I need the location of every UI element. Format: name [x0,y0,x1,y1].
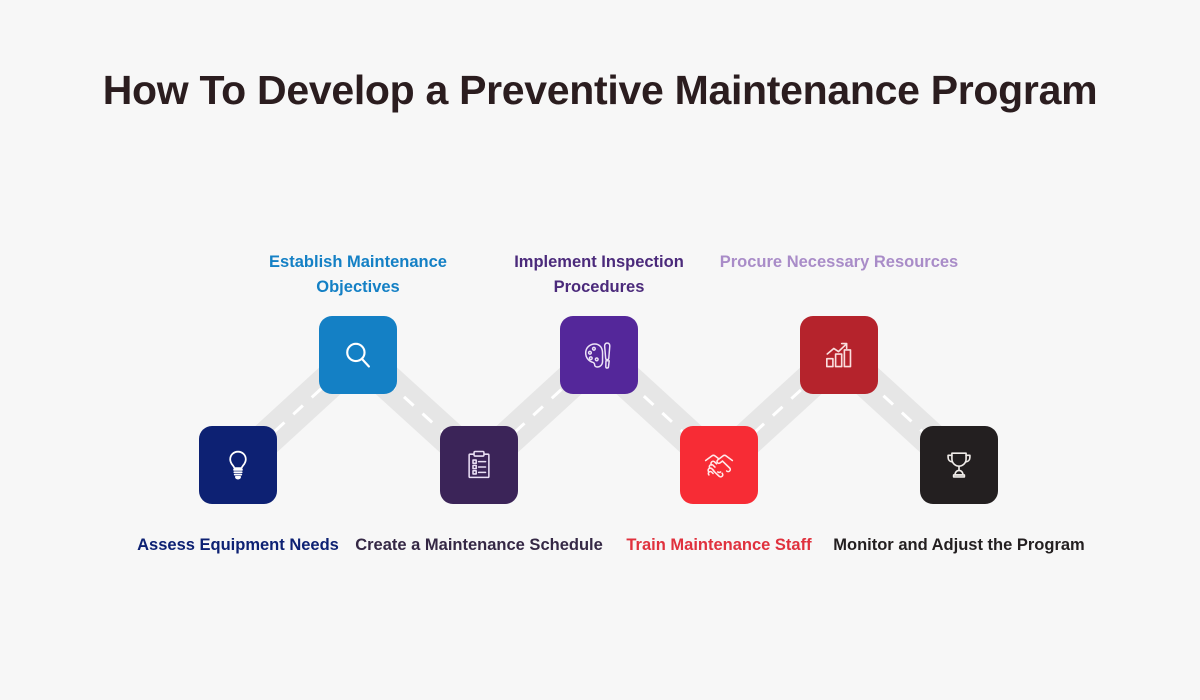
step-5-label: Train Maintenance Staff [589,533,849,558]
step-4-icon-tile[interactable] [560,316,638,394]
paint-palette-icon [582,338,616,372]
step-6-label: Procure Necessary Resources [709,250,969,275]
step-1-label: Assess Equipment Needs [108,533,368,558]
bar-chart-growth-icon [822,338,856,372]
trophy-icon [942,448,976,482]
step-4-label: Implement Inspection Procedures [469,250,729,300]
search-icon [341,338,375,372]
step-7-icon-tile[interactable] [920,426,998,504]
step-3-icon-tile[interactable] [440,426,518,504]
infographic-canvas: How To Develop a Preventive Maintenance … [0,0,1200,700]
page-title: How To Develop a Preventive Maintenance … [0,62,1200,119]
step-1-icon-tile[interactable] [199,426,277,504]
step-3-label: Create a Maintenance Schedule [349,533,609,558]
step-5-icon-tile[interactable] [680,426,758,504]
clipboard-checklist-icon [463,449,495,481]
step-7-label: Monitor and Adjust the Program [829,533,1089,558]
handshake-icon [701,447,737,483]
step-2-label: Establish Maintenance Objectives [228,250,488,300]
step-6-icon-tile[interactable] [800,316,878,394]
lightbulb-icon [221,448,255,482]
step-2-icon-tile[interactable] [319,316,397,394]
